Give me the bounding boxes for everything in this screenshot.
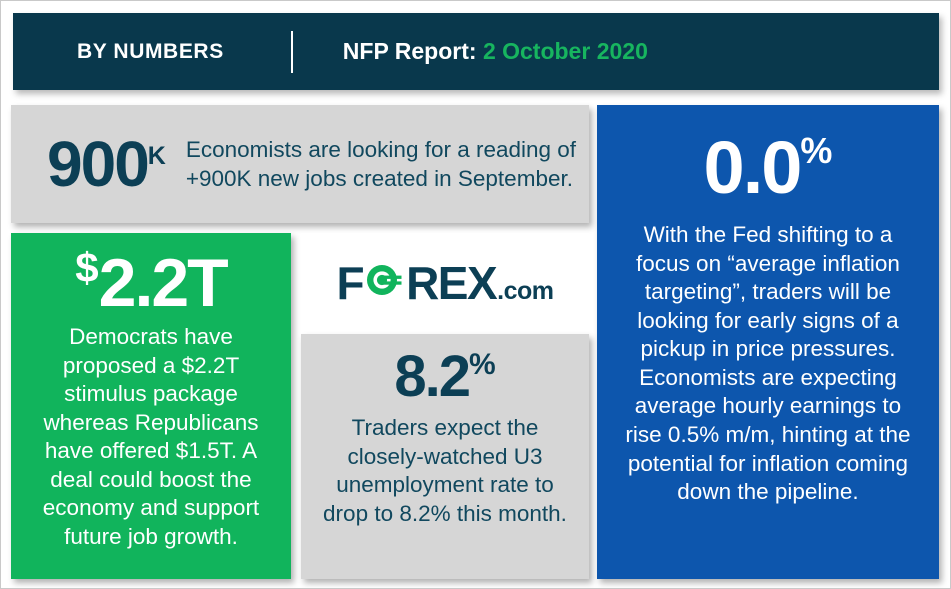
stat-card-unemployment: 8.2% Traders expect the closely-watched …	[301, 334, 589, 579]
stat-value-unemployment: 8.2%	[311, 348, 579, 406]
report-date: 2 October 2020	[483, 38, 648, 64]
header-divider	[291, 31, 293, 73]
stat-value-jobs: 900K	[47, 132, 166, 196]
stat-card-rates: 0.0% With the Fed shifting to a focus on…	[597, 105, 939, 579]
infographic-canvas: BY NUMBERS NFP Report: 2 October 2020 90…	[0, 0, 951, 589]
page-title: NFP Report: 2 October 2020	[343, 38, 648, 65]
stat-value-stimulus: $2.2T	[23, 247, 279, 317]
stat-number-unemployment: 8.2	[394, 344, 469, 409]
logo-wordmark: F REX .com	[336, 257, 553, 306]
header-kicker: BY NUMBERS	[77, 40, 224, 64]
logo-text-suffix: REX	[406, 260, 496, 306]
report-label: NFP Report:	[343, 38, 477, 64]
stat-number-rates: 0.0	[704, 126, 801, 209]
stat-unit-jobs: K	[148, 142, 166, 170]
euro-coin-icon	[363, 259, 405, 306]
stat-body-unemployment: Traders expect the closely-watched U3 un…	[311, 414, 579, 528]
logo-tld: .com	[497, 279, 553, 304]
brand-logo[interactable]: F REX .com	[301, 233, 589, 329]
stat-number-jobs: 900	[47, 128, 148, 200]
logo-text-prefix: F	[336, 260, 363, 306]
stat-number-stimulus: 2.2T	[99, 245, 227, 321]
stat-unit-unemployment: %	[469, 348, 496, 381]
stat-currency-stimulus: $	[75, 244, 98, 291]
stat-unit-rates: %	[800, 130, 832, 171]
header-bar: BY NUMBERS NFP Report: 2 October 2020	[13, 13, 939, 90]
stat-body-jobs: Economists are looking for a reading of …	[186, 135, 589, 193]
stat-body-rates: With the Fed shifting to a focus on “ave…	[609, 221, 927, 507]
stat-body-stimulus: Democrats have proposed a $2.2T stimulus…	[23, 323, 279, 552]
stat-card-jobs: 900K Economists are looking for a readin…	[11, 105, 589, 223]
stat-card-stimulus: $2.2T Democrats have proposed a $2.2T st…	[11, 233, 291, 579]
stat-value-rates: 0.0%	[609, 131, 927, 205]
